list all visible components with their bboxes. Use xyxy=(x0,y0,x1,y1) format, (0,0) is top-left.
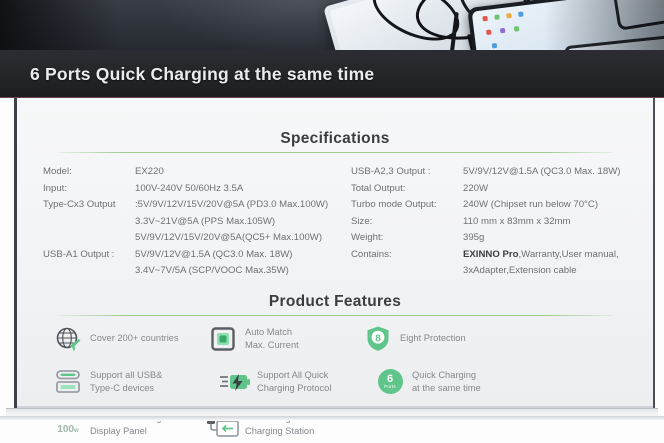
specifications-panel: Specifications Model: EX220 Input: 100V-… xyxy=(14,98,655,408)
feature-line1: Cover 200+ countries xyxy=(90,332,179,345)
spec-label: Type-Cx3 Output xyxy=(43,197,135,214)
feature-item: Support all USB& Type-C devices xyxy=(51,367,218,397)
feature-line2: at the same time xyxy=(412,382,481,395)
spec-label xyxy=(351,263,463,280)
spec-label: Total Output: xyxy=(351,181,463,198)
spec-label: Size: xyxy=(351,214,463,231)
product-box-photo: 6 Ports Quick Charging at the same time … xyxy=(0,0,664,443)
brand-name: EXINNO Pro xyxy=(463,249,518,260)
feature-text: Support all USB& Type-C devices xyxy=(85,369,162,394)
feature-item: 8 Eight Protection xyxy=(361,324,516,354)
product-features-title: Product Features xyxy=(17,293,653,311)
tagline-text: 6 Ports Quick Charging at the same time xyxy=(30,64,374,85)
spec-row: 3xAdapter,Extension cable xyxy=(351,263,641,280)
spec-value: 220W xyxy=(463,181,641,198)
spec-label: USB-A2,3 Output : xyxy=(351,164,463,181)
feature-line2: Display Panel xyxy=(90,425,167,438)
spec-row: Type-Cx3 Output :5V/9V/12V/15V/20V@5A (P… xyxy=(43,197,343,214)
spec-value: 3xAdapter,Extension cable xyxy=(463,263,641,280)
feature-item: 6 Ports Quick Charging at the same time xyxy=(373,367,528,397)
feature-line2: Charging Protocol xyxy=(257,382,331,395)
wattage-bottom-row: 100w xyxy=(57,424,78,437)
ports-count: 6 xyxy=(387,374,393,384)
specifications-columns: Model: EX220 Input: 100V-240V 50/60Hz 3.… xyxy=(17,164,653,280)
spec-row: 5V/9V/12V/15V/20V@5A(QC5+ Max.100W) xyxy=(43,230,343,247)
feature-text: Cover 200+ countries xyxy=(85,332,179,345)
feature-line1: Quick Charging xyxy=(412,369,481,382)
box-shadow-edge xyxy=(0,416,664,421)
spec-row: Input: 100V-240V 50/60Hz 3.5A xyxy=(43,181,343,198)
feature-line1: Auto Match xyxy=(245,326,299,339)
wattage-unit: w xyxy=(74,428,79,434)
spec-label: Contains: xyxy=(351,247,463,264)
globe-airplane-icon xyxy=(51,324,85,354)
spec-row: Model: EX220 xyxy=(43,164,343,181)
spec-row: Weight: 395g xyxy=(351,230,641,247)
feature-line1: Support All Quick xyxy=(257,369,331,382)
spec-row: Total Output: 220W xyxy=(351,181,641,198)
spec-value: 240W (Chipset run below 70°C) xyxy=(463,197,641,214)
spec-value: 5V/9V/12V@1.5A (QC3.0 Max. 18W) xyxy=(135,247,343,264)
spec-value: 3.3V~21V@5A (PPS Max.105W) xyxy=(135,214,343,231)
spec-value: :5V/9V/12V/15V/20V@5A (PD3.0 Max.100W) xyxy=(135,197,343,214)
spec-value: 5V/9V/12V@1.5A (QC3.0 Max. 18W) xyxy=(463,164,641,181)
spec-label xyxy=(43,230,135,247)
feature-line2: Type-C devices xyxy=(90,382,162,395)
ports-label: Ports xyxy=(384,384,396,390)
spec-value: 395g xyxy=(463,230,641,247)
spec-label xyxy=(43,263,135,280)
contains-rest: ,Warranty,User manual, xyxy=(518,249,618,260)
spec-label: Model: xyxy=(43,164,135,181)
spec-label: USB-A1 Output : xyxy=(43,247,135,264)
spec-value: EXINNO Pro,Warranty,User manual, xyxy=(463,247,641,264)
feature-text: Eight Protection xyxy=(395,332,466,345)
six-ports-badge-icon: 6 Ports xyxy=(373,367,407,397)
spec-value: 100V-240V 50/60Hz 3.5A xyxy=(135,181,343,198)
spec-value: 110 mm x 83mm x 32mm xyxy=(463,214,641,231)
spec-label: Weight: xyxy=(351,230,463,247)
feature-line1: Support all USB& xyxy=(90,369,162,382)
usb-ports-icon xyxy=(51,367,85,397)
spec-value: EX220 xyxy=(135,164,343,181)
specifications-left-column: Model: EX220 Input: 100V-240V 50/60Hz 3.… xyxy=(43,164,343,280)
specifications-right-column: USB-A2,3 Output : 5V/9V/12V@1.5A (QC3.0 … xyxy=(343,164,641,280)
battery-bolt-icon xyxy=(218,367,252,397)
spec-value: 5V/9V/12V/15V/20V@5A(QC5+ Max.100W) xyxy=(135,230,343,247)
spec-row: Size: 110 mm x 83mm x 32mm xyxy=(351,214,641,231)
spec-row-contains: Contains: EXINNO Pro,Warranty,User manua… xyxy=(351,247,641,264)
feature-line2: Charging Station xyxy=(245,425,314,438)
spec-row: 3.3V~21V@5A (PPS Max.105W) xyxy=(43,214,343,231)
feature-item: Cover 200+ countries xyxy=(51,324,206,354)
feature-text: Support All Quick Charging Protocol xyxy=(252,369,331,394)
specifications-title: Specifications xyxy=(17,130,653,148)
spec-row: Turbo mode Output: 240W (Chipset run bel… xyxy=(351,197,641,214)
feature-line2: Max. Current xyxy=(245,339,299,352)
feature-item: Support All Quick Charging Protocol xyxy=(218,367,373,397)
tagline-banner: 6 Ports Quick Charging at the same time xyxy=(0,50,664,98)
feature-line1: Eight Protection xyxy=(400,332,466,345)
spec-label xyxy=(43,214,135,231)
spec-row: USB-A1 Output : 5V/9V/12V@1.5A (QC3.0 Ma… xyxy=(43,247,343,264)
spec-row: 3.4V~7V/5A (SCP/VOOC Max.35W) xyxy=(43,263,343,280)
wattage-value: 100 xyxy=(57,424,74,435)
spec-label: Input: xyxy=(43,181,135,198)
feature-text: Quick Charging at the same time xyxy=(407,369,481,394)
spec-label: Turbo mode Output: xyxy=(351,197,463,214)
feature-item: Auto Match Max. Current xyxy=(206,324,361,354)
feature-text: Auto Match Max. Current xyxy=(240,326,299,351)
specifications-divider xyxy=(57,152,613,153)
features-grid: Cover 200+ countries Auto Match Max. Cur… xyxy=(17,316,653,443)
shield-eight-icon: 8 xyxy=(361,324,395,354)
svg-text:8: 8 xyxy=(375,333,381,344)
spec-value: 3.4V~7V/5A (SCP/VOOC Max.35W) xyxy=(135,263,343,280)
chip-auto-match-icon xyxy=(206,324,240,354)
spec-row: USB-A2,3 Output : 5V/9V/12V@1.5A (QC3.0 … xyxy=(351,164,641,181)
